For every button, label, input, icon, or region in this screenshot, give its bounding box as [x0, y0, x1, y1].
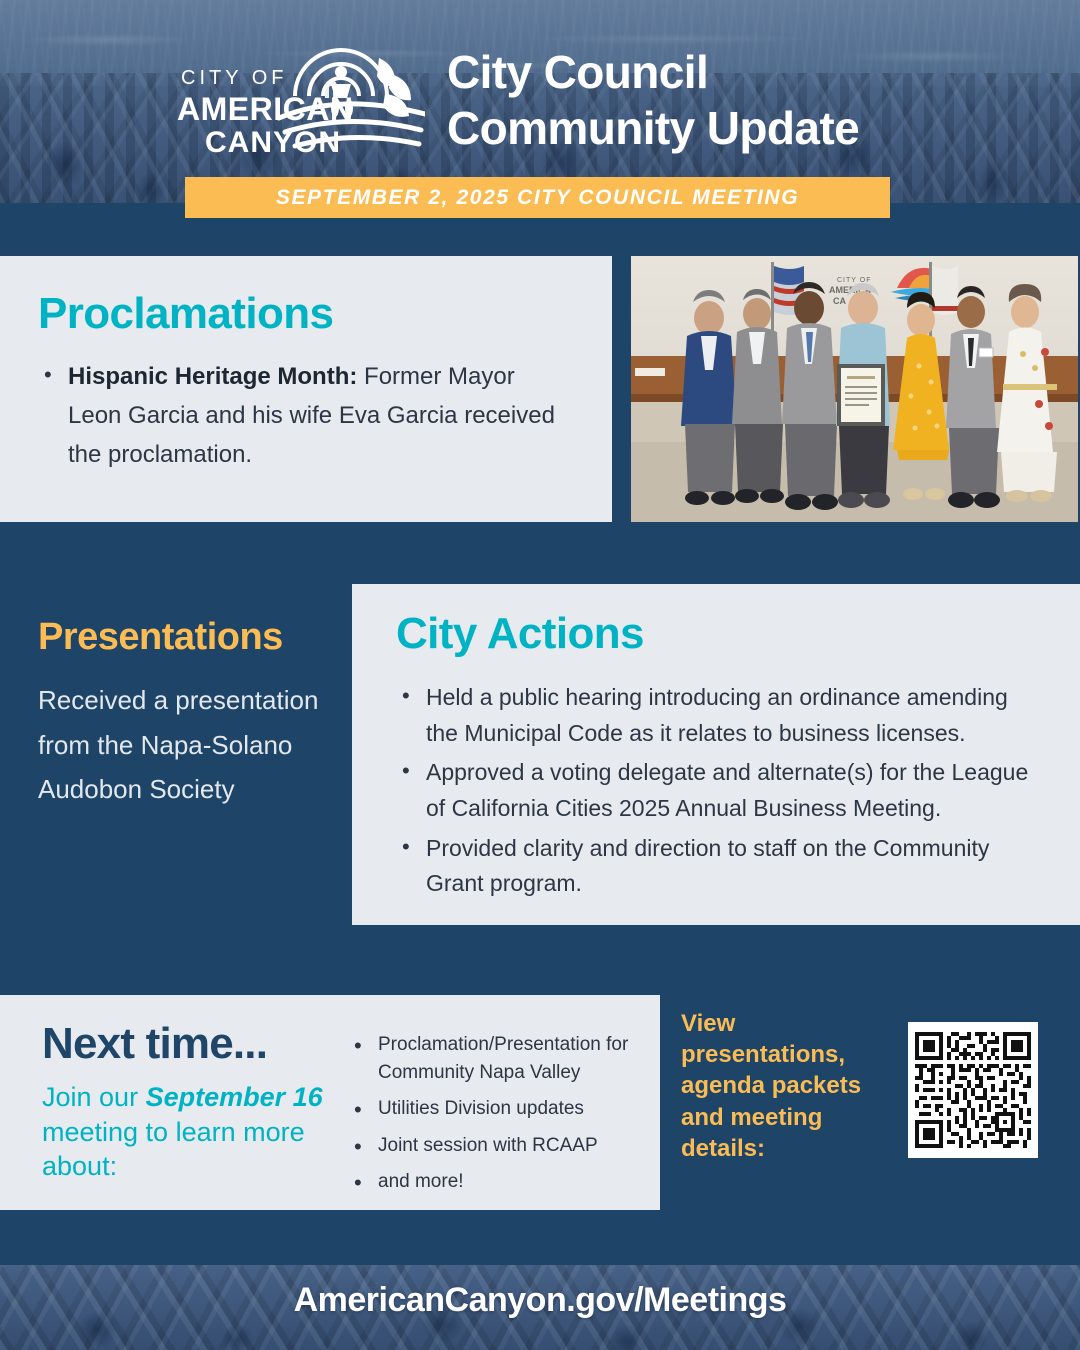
proclamation-photo: CITY OF AMERICA CA [631, 256, 1078, 522]
qr-code[interactable] [908, 1022, 1038, 1158]
city-actions-panel: City Actions Held a public hearing intro… [352, 584, 1080, 925]
presentations-body: Received a presentation from the Napa-So… [38, 678, 338, 812]
page-title-line2: Community Update [447, 100, 1067, 156]
page-title-line1: City Council [447, 44, 1067, 100]
list-item: and more! [348, 1168, 643, 1196]
svg-text:CA: CA [833, 296, 846, 306]
list-item: Hispanic Heritage Month: Former Mayor Le… [38, 358, 574, 475]
city-actions-list: Held a public hearing introducing an ord… [396, 680, 1046, 902]
meeting-date-banner: SEPTEMBER 2, 2025 CITY COUNCIL MEETING [185, 177, 890, 218]
city-of-american-canyon-logo: CITY OF AMERICAN CANYON [175, 40, 425, 162]
next-time-topics-list: Proclamation/Presentation for Community … [348, 1031, 643, 1205]
list-item: Held a public hearing introducing an ord… [396, 680, 1046, 751]
footer-banner: AmericanCanyon.gov/Meetings [0, 1265, 1080, 1350]
proclamations-panel: Proclamations Hispanic Heritage Month: F… [0, 256, 612, 522]
infographic-page: CITY OF AMERICAN CANYON [0, 0, 1080, 1350]
svg-text:CITY OF: CITY OF [181, 67, 288, 89]
next-time-sub-prefix: Join our [42, 1082, 146, 1112]
list-item: Approved a voting delegate and alternate… [396, 755, 1046, 826]
next-time-heading: Next time... [42, 1022, 342, 1066]
city-actions-heading: City Actions [396, 612, 1046, 656]
proclamation-item-label: Hispanic Heritage Month: [68, 363, 357, 390]
next-time-sub-suffix: meeting to learn more about: [42, 1117, 305, 1182]
footer-website-url[interactable]: AmericanCanyon.gov/Meetings [0, 1281, 1080, 1320]
view-details-text: View presentations, agenda packets and m… [681, 1008, 891, 1164]
list-item: Provided clarity and direction to staff … [396, 831, 1046, 902]
list-item: Proclamation/Presentation for Community … [348, 1031, 643, 1086]
page-title: City Council Community Update [447, 44, 1067, 156]
next-time-date: September 16 [146, 1082, 323, 1112]
presentations-block: Presentations Received a presentation fr… [38, 618, 338, 812]
meeting-date-text: SEPTEMBER 2, 2025 CITY COUNCIL MEETING [276, 186, 799, 210]
list-item: Joint session with RCAAP [348, 1132, 643, 1160]
next-time-left: Next time... Join our September 16 meeti… [42, 1022, 342, 1184]
proclamations-list: Hispanic Heritage Month: Former Mayor Le… [38, 358, 574, 475]
presentations-heading: Presentations [38, 618, 338, 656]
proclamations-heading: Proclamations [38, 292, 574, 336]
svg-text:CITY OF: CITY OF [837, 277, 871, 284]
next-time-subtext: Join our September 16 meeting to learn m… [42, 1080, 342, 1184]
list-item: Utilities Division updates [348, 1095, 643, 1123]
